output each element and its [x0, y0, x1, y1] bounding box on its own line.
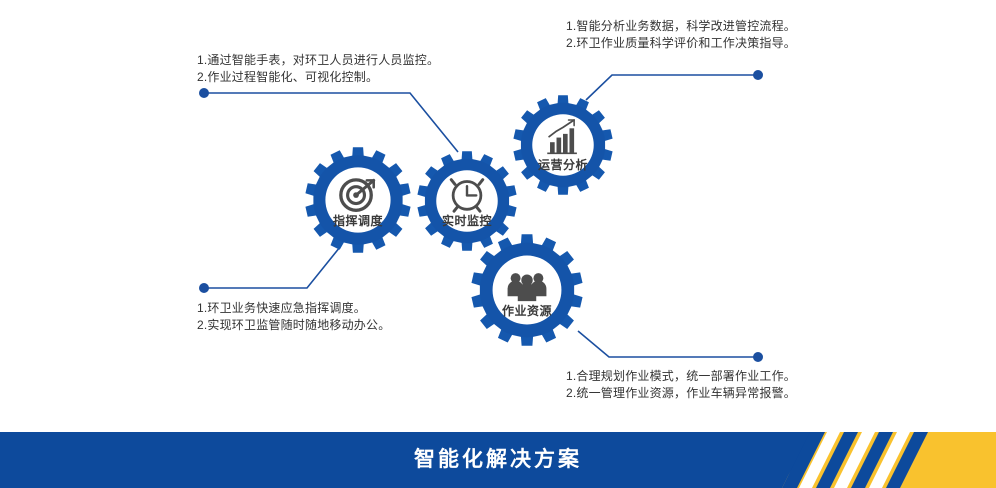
- gear-command-dispatch-graphic: [301, 143, 415, 257]
- callout-bottom-left: 1.环卫业务快速应急指挥调度。 2.实现环卫监管随时随地移动办公。: [197, 300, 390, 334]
- gear-operations-analysis-graphic: [509, 91, 617, 199]
- connector-bottom-left-dot: [199, 283, 209, 293]
- callout-top-left-line1: 1.通过智能手表，对环卫人员进行人员监控。: [197, 52, 439, 69]
- gear-command-dispatch[interactable]: 指挥调度: [301, 143, 415, 257]
- slide-canvas: 1.通过智能手表，对环卫人员进行人员监控。 2.作业过程智能化、可视化控制。 1…: [0, 0, 996, 488]
- callout-top-left: 1.通过智能手表，对环卫人员进行人员监控。 2.作业过程智能化、可视化控制。: [197, 52, 439, 86]
- connector-bottom-right: [578, 331, 758, 357]
- callout-bottom-right: 1.合理规划作业模式，统一部署作业工作。 2.统一管理作业资源，作业车辆异常报警…: [566, 368, 796, 402]
- callout-bottom-right-line2: 2.统一管理作业资源，作业车辆异常报警。: [566, 385, 796, 402]
- gear-label-command-dispatch: 指挥调度: [301, 212, 415, 229]
- callout-top-right-line2: 2.环卫作业质量科学评价和工作决策指导。: [566, 35, 796, 52]
- bottom-banner: 智能化解决方案: [0, 432, 996, 488]
- gear-operations-analysis[interactable]: 运营分析: [509, 91, 617, 199]
- gear-operating-resources[interactable]: 作业资源: [467, 230, 587, 350]
- callout-top-left-line2: 2.作业过程智能化、可视化控制。: [197, 69, 439, 86]
- banner-title: 智能化解决方案: [0, 432, 996, 488]
- callout-bottom-left-line2: 2.实现环卫监管随时随地移动办公。: [197, 317, 390, 334]
- gear-label-realtime-monitoring: 实时监控: [413, 212, 521, 229]
- callout-top-right: 1.智能分析业务数据，科学改进管控流程。 2.环卫作业质量科学评价和工作决策指导…: [566, 18, 796, 52]
- connector-top-left-dot: [199, 88, 209, 98]
- callout-bottom-left-line1: 1.环卫业务快速应急指挥调度。: [197, 300, 390, 317]
- callout-top-right-line1: 1.智能分析业务数据，科学改进管控流程。: [566, 18, 796, 35]
- gear-label-operations-analysis: 运营分析: [509, 156, 617, 173]
- callout-bottom-right-line1: 1.合理规划作业模式，统一部署作业工作。: [566, 368, 796, 385]
- connector-bottom-right-dot: [753, 352, 763, 362]
- gear-operating-resources-graphic: [467, 230, 587, 350]
- connector-top-right-dot: [753, 70, 763, 80]
- gear-label-operating-resources: 作业资源: [467, 302, 587, 319]
